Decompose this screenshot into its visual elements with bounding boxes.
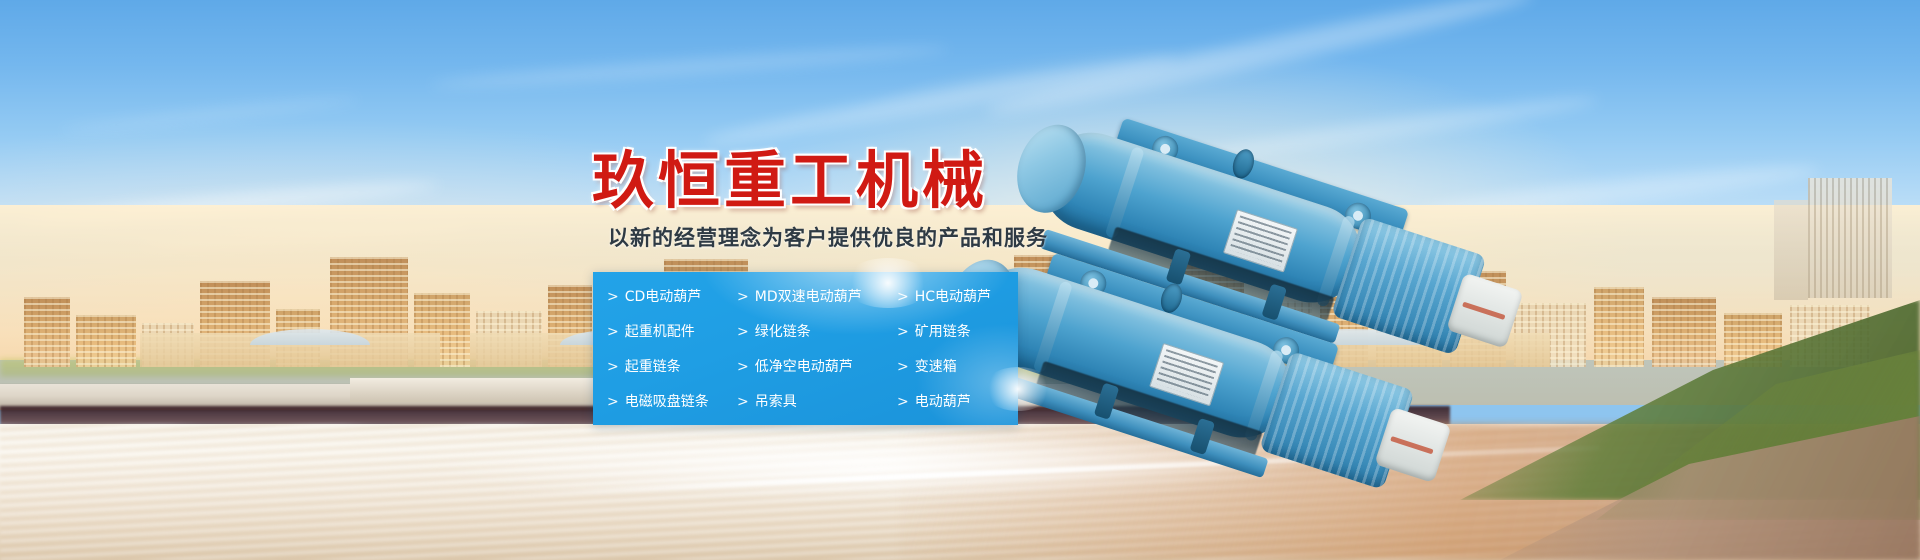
product-link-md-dual-speed-hoist[interactable]: > MD双速电动葫芦 — [737, 290, 897, 304]
chevron-right-icon: > — [607, 395, 619, 409]
product-label: 电磁吸盘链条 — [625, 395, 709, 409]
product-label: MD双速电动葫芦 — [755, 290, 862, 304]
product-link-slings[interactable]: > 吊索具 — [737, 395, 897, 409]
product-link-mining-chain[interactable]: > 矿用链条 — [897, 325, 1032, 339]
product-label: 绿化链条 — [755, 325, 811, 339]
product-label: 吊索具 — [755, 395, 797, 409]
building — [24, 297, 70, 367]
product-label: CD电动葫芦 — [625, 290, 702, 304]
product-label: 变速箱 — [915, 360, 957, 374]
product-label: 起重机配件 — [625, 325, 695, 339]
product-label: 低净空电动葫芦 — [755, 360, 853, 374]
product-label: 电动葫芦 — [915, 395, 971, 409]
building — [76, 315, 136, 367]
product-link-electric-hoist[interactable]: > 电动葫芦 — [897, 395, 1032, 409]
product-link-lifting-chain[interactable]: > 起重链条 — [607, 360, 737, 374]
chevron-right-icon: > — [897, 290, 909, 304]
chevron-right-icon: > — [897, 395, 909, 409]
chevron-right-icon: > — [897, 360, 909, 374]
product-link-crane-parts[interactable]: > 起重机配件 — [607, 325, 737, 339]
product-link-hc-hoist[interactable]: > HC电动葫芦 — [897, 290, 1032, 304]
product-link-low-headroom-hoist[interactable]: > 低净空电动葫芦 — [737, 360, 897, 374]
product-label: 矿用链条 — [915, 325, 971, 339]
page-title: 玖恒重工机械 — [592, 130, 988, 220]
product-link-gearbox[interactable]: > 变速箱 — [897, 360, 1032, 374]
chevron-right-icon: > — [607, 325, 619, 339]
chevron-right-icon: > — [737, 360, 749, 374]
chevron-right-icon: > — [607, 290, 619, 304]
product-label: 起重链条 — [625, 360, 681, 374]
product-link-magnetic-chuck-chain[interactable]: > 电磁吸盘链条 — [607, 395, 737, 409]
electric-hoist-product-image — [1020, 40, 1920, 520]
chevron-right-icon: > — [737, 395, 749, 409]
page-subtitle: 以新的经营理念为客户提供优良的产品和服务 — [608, 222, 1048, 252]
product-link-cd-hoist[interactable]: > CD电动葫芦 — [607, 290, 737, 304]
product-grid: > CD电动葫芦 > MD双速电动葫芦 > HC电动葫芦 > 起重机配件 > 绿… — [593, 272, 1018, 425]
chevron-right-icon: > — [737, 325, 749, 339]
product-label: HC电动葫芦 — [915, 290, 991, 304]
product-link-greening-chain[interactable]: > 绿化链条 — [737, 325, 897, 339]
hero-banner: 玖恒重工机械 以新的经营理念为客户提供优良的产品和服务 > CD电动葫芦 > M… — [0, 0, 1920, 560]
chevron-right-icon: > — [607, 360, 619, 374]
product-list-panel: > CD电动葫芦 > MD双速电动葫芦 > HC电动葫芦 > 起重机配件 > 绿… — [593, 272, 1018, 425]
chevron-right-icon: > — [897, 325, 909, 339]
chevron-right-icon: > — [737, 290, 749, 304]
